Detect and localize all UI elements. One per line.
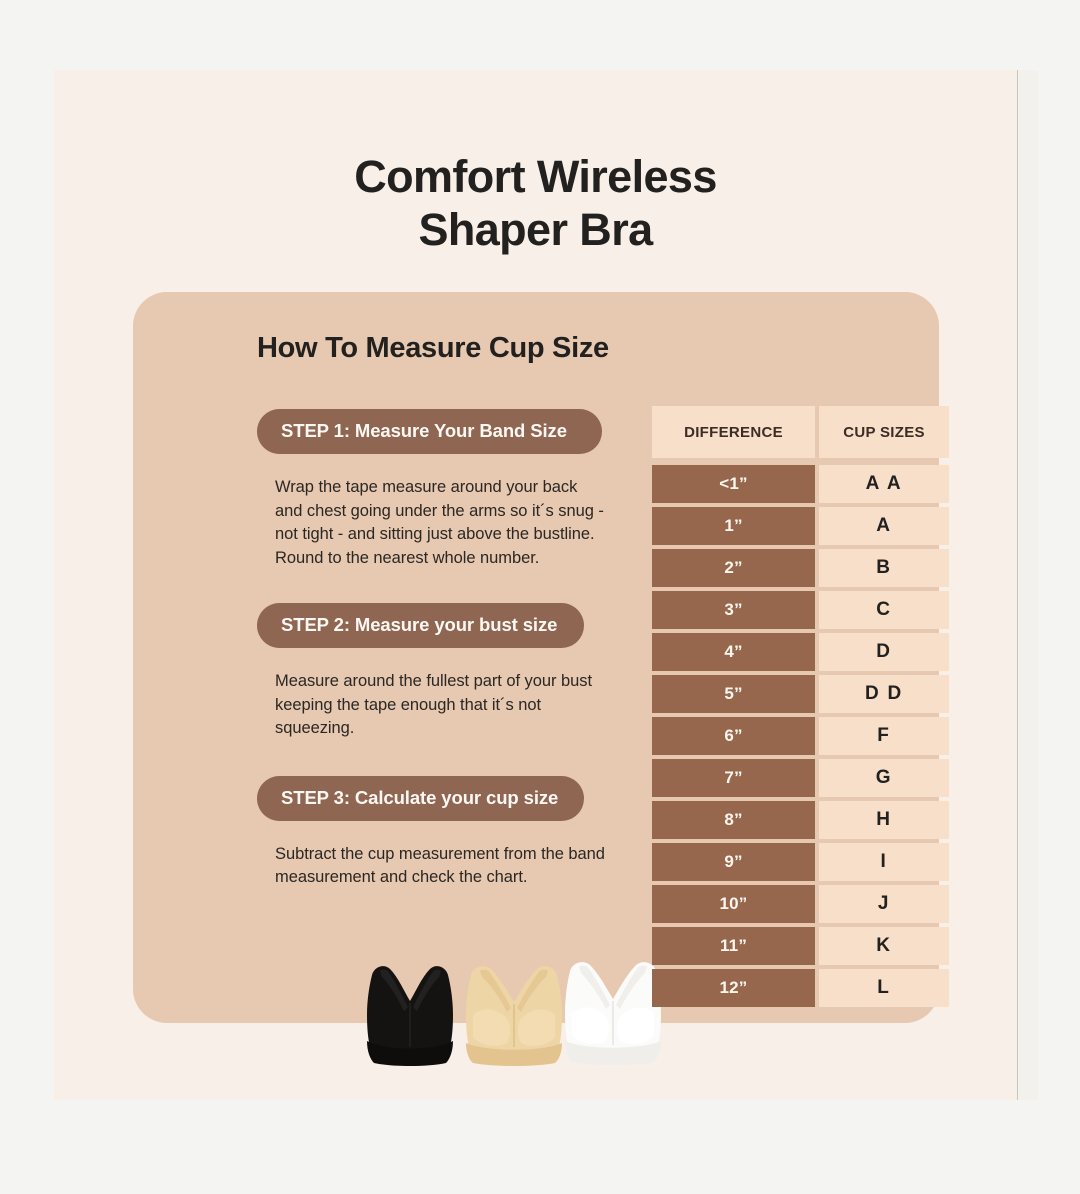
table-row: 5” D D [652, 675, 949, 713]
table-row: 8” H [652, 801, 949, 839]
cell-cup-size: B [819, 549, 949, 587]
cell-cup-size: I [819, 843, 949, 881]
table-row: 3” C [652, 591, 949, 629]
cell-cup-size: D [819, 633, 949, 671]
table-row: 2” B [652, 549, 949, 587]
table-row: 1” A [652, 507, 949, 545]
measure-instructions: How To Measure Cup Size STEP 1: Measure … [257, 332, 617, 898]
size-guide-card: How To Measure Cup Size STEP 1: Measure … [133, 292, 939, 1023]
page-title: Comfort Wireless Shaper Bra [54, 150, 1017, 256]
cell-difference: 5” [652, 675, 815, 713]
step-3: STEP 3: Calculate your cup size Subtract… [257, 776, 617, 890]
cell-difference: 8” [652, 801, 815, 839]
section-heading: How To Measure Cup Size [257, 332, 617, 365]
cell-cup-size: F [819, 717, 949, 755]
step-3-pill: STEP 3: Calculate your cup size [257, 776, 584, 821]
step-2-body: Measure around the fullest part of your … [275, 670, 605, 741]
cell-cup-size: A A [819, 465, 949, 503]
column-header-cup-sizes: CUP SIZES [819, 406, 949, 458]
step-2: STEP 2: Measure your bust size Measure a… [257, 603, 617, 741]
bra-image-black [358, 957, 462, 1067]
cell-difference: 2” [652, 549, 815, 587]
cell-difference: 11” [652, 927, 815, 965]
cell-cup-size: H [819, 801, 949, 839]
step-1: STEP 1: Measure Your Band Size Wrap the … [257, 409, 617, 570]
table-header-row: DIFFERENCE CUP SIZES [652, 406, 949, 458]
table-row: 6” F [652, 717, 949, 755]
table-row: <1” A A [652, 465, 949, 503]
step-3-body: Subtract the cup measurement from the ba… [275, 843, 605, 890]
step-1-pill: STEP 1: Measure Your Band Size [257, 409, 602, 454]
cell-cup-size: G [819, 759, 949, 797]
step-2-pill: STEP 2: Measure your bust size [257, 603, 584, 648]
infographic-canvas: Comfort Wireless Shaper Bra How To Measu… [54, 70, 1017, 1100]
cell-difference: <1” [652, 465, 815, 503]
cell-cup-size: D D [819, 675, 949, 713]
title-line-2: Shaper Bra [54, 203, 1017, 256]
cell-difference: 10” [652, 885, 815, 923]
size-chart-table: DIFFERENCE CUP SIZES <1” A A 1” A 2” B 3… [652, 406, 949, 1011]
right-side-panel [1018, 70, 1038, 1100]
product-images [352, 952, 682, 1067]
bra-image-beige [457, 959, 571, 1067]
table-row: 7” G [652, 759, 949, 797]
cell-difference: 4” [652, 633, 815, 671]
table-row: 11” K [652, 927, 949, 965]
cell-difference: 1” [652, 507, 815, 545]
cell-difference: 9” [652, 843, 815, 881]
table-row: 12” L [652, 969, 949, 1007]
table-row: 9” I [652, 843, 949, 881]
cell-cup-size: L [819, 969, 949, 1007]
cell-difference: 12” [652, 969, 815, 1007]
cell-cup-size: K [819, 927, 949, 965]
step-1-body: Wrap the tape measure around your back a… [275, 476, 605, 570]
column-header-difference: DIFFERENCE [652, 406, 815, 458]
cell-cup-size: J [819, 885, 949, 923]
cell-difference: 7” [652, 759, 815, 797]
cell-cup-size: A [819, 507, 949, 545]
infographic-page: Comfort Wireless Shaper Bra How To Measu… [0, 0, 1080, 1194]
table-row: 4” D [652, 633, 949, 671]
title-line-1: Comfort Wireless [354, 151, 717, 202]
cell-difference: 6” [652, 717, 815, 755]
cell-cup-size: C [819, 591, 949, 629]
cell-difference: 3” [652, 591, 815, 629]
table-row: 10” J [652, 885, 949, 923]
